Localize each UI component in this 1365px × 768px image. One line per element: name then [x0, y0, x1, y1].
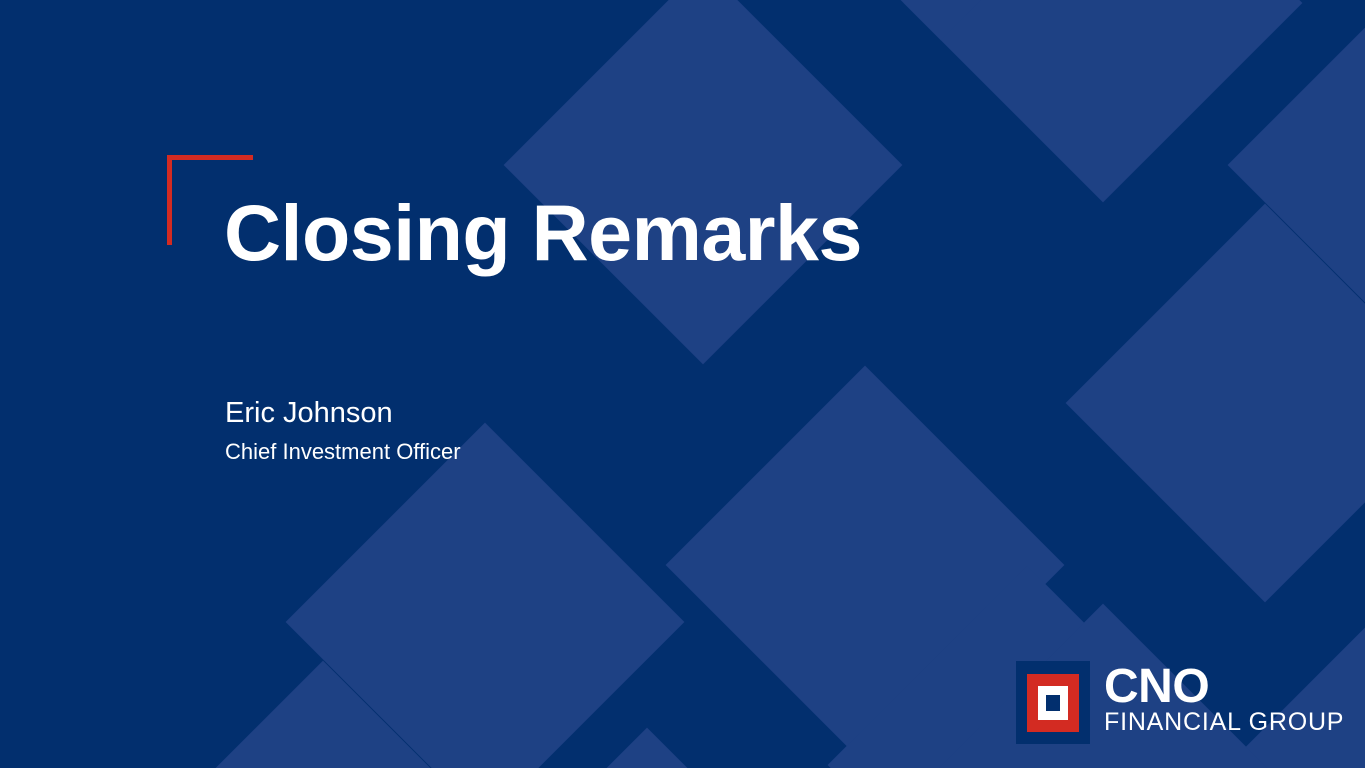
presentation-slide: Closing Remarks Eric Johnson Chief Inves…: [0, 0, 1365, 768]
cno-logo: CNO FINANCIAL GROUP: [1016, 661, 1344, 744]
cno-tagline-text: FINANCIAL GROUP: [1104, 709, 1344, 735]
cno-logo-wordmark: CNO FINANCIAL GROUP: [1104, 661, 1344, 735]
presenter-role: Chief Investment Officer: [225, 439, 461, 465]
presenter-name: Eric Johnson: [225, 396, 461, 431]
slide-title: Closing Remarks: [224, 193, 862, 274]
cno-logo-mark-icon: [1016, 661, 1090, 744]
background-diamond-pattern: [0, 0, 1365, 768]
presenter-block: Eric Johnson Chief Investment Officer: [225, 396, 461, 465]
bracket-horizontal-bar: [167, 155, 253, 160]
cno-brand-text: CNO: [1104, 665, 1344, 709]
bracket-vertical-bar: [167, 155, 172, 245]
